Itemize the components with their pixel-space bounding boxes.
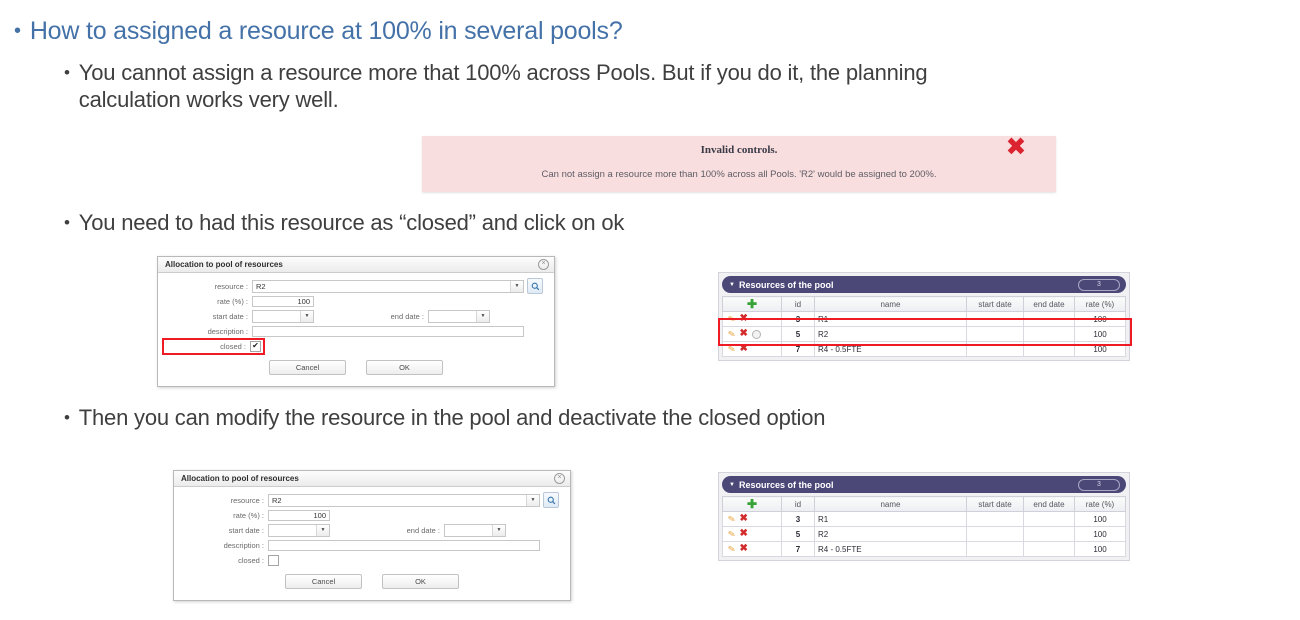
table-row[interactable]: ✎ ✖ 3 R1 100 <box>723 312 1126 327</box>
cell-id: 5 <box>782 327 815 342</box>
resource-value: R2 <box>253 281 510 292</box>
table-row[interactable]: ✎ ✖ 5 R2 100 <box>723 527 1126 542</box>
allocation-dialog-closed-checked: Allocation to pool of resources × resour… <box>157 256 555 387</box>
cell-end-date <box>1024 542 1075 557</box>
resource-select[interactable]: R2 ▼ <box>252 280 524 293</box>
row-actions: ✎ ✖ <box>723 312 782 327</box>
chevron-down-icon[interactable]: ▼ <box>729 482 735 488</box>
cell-name: R4 - 0.5FTE <box>815 542 967 557</box>
resources-pool-panel-top: ▼ Resources of the pool 3 ✚ id name star… <box>718 272 1130 361</box>
plus-icon[interactable]: ✚ <box>747 497 757 511</box>
cell-end-date <box>1024 342 1075 357</box>
rate-input[interactable]: 100 <box>268 510 330 521</box>
resource-label: resource : <box>166 282 252 291</box>
cell-id: 7 <box>782 542 815 557</box>
resource-label: resource : <box>182 496 268 505</box>
close-icon[interactable]: ✖ <box>1003 134 1029 160</box>
cell-id: 3 <box>782 512 815 527</box>
bullet-glyph: • <box>64 209 70 236</box>
dialog-titlebar: Allocation to pool of resources × <box>158 257 554 273</box>
chevron-down-icon[interactable]: ▼ <box>526 495 539 506</box>
cancel-button[interactable]: Cancel <box>269 360 346 375</box>
resource-value: R2 <box>269 495 526 506</box>
row-actions: ✎ ✖ <box>723 342 782 357</box>
end-date-input[interactable]: ▼ <box>444 524 506 537</box>
chevron-down-icon[interactable]: ▼ <box>476 311 489 322</box>
bullet-modify-resource: • Then you can modify the resource in th… <box>64 404 825 431</box>
rate-row: rate (%) : 100 <box>182 509 562 521</box>
chevron-down-icon[interactable]: ▼ <box>729 282 735 288</box>
delete-icon[interactable]: ✖ <box>740 314 748 324</box>
bullet-glyph: • <box>64 404 70 431</box>
dialog-titlebar: Allocation to pool of resources × <box>174 471 570 487</box>
rate-input[interactable]: 100 <box>252 296 314 307</box>
cell-start-date <box>967 342 1024 357</box>
dialog-title: Allocation to pool of resources <box>165 260 283 269</box>
cell-rate: 100 <box>1075 327 1126 342</box>
start-date-label: start date : <box>166 312 252 321</box>
resource-select[interactable]: R2 ▼ <box>268 494 540 507</box>
col-name: name <box>815 497 967 512</box>
delete-icon[interactable]: ✖ <box>740 529 748 539</box>
closed-highlight: closed : ✔ <box>162 338 265 355</box>
table-header-row: ✚ id name start date end date rate (%) <box>723 497 1126 512</box>
cell-name: R1 <box>815 512 967 527</box>
start-date-value <box>269 525 316 536</box>
cell-end-date <box>1024 312 1075 327</box>
edit-icon[interactable]: ✎ <box>727 313 736 325</box>
table-row[interactable]: ✎ ✖ 7 R4 - 0.5FTE 100 <box>723 342 1126 357</box>
col-end-date: end date <box>1024 297 1075 312</box>
ok-button[interactable]: OK <box>366 360 443 375</box>
col-rate: rate (%) <box>1075 497 1126 512</box>
bullet-glyph: • <box>64 59 70 86</box>
cancel-button[interactable]: Cancel <box>285 574 362 589</box>
edit-icon[interactable]: ✎ <box>727 343 736 355</box>
resource-row: resource : R2 ▼ <box>182 494 562 506</box>
col-name: name <box>815 297 967 312</box>
bullet-text: Then you can modify the resource in the … <box>79 404 826 431</box>
description-label: description : <box>166 327 252 336</box>
cell-rate: 100 <box>1075 527 1126 542</box>
col-end-date: end date <box>1024 497 1075 512</box>
resources-pool-panel-bottom: ▼ Resources of the pool 3 ✚ id name star… <box>718 472 1130 561</box>
col-start-date: start date <box>967 297 1024 312</box>
resource-row: resource : R2 ▼ <box>166 280 546 292</box>
col-rate: rate (%) <box>1075 297 1126 312</box>
resources-table: ✚ id name start date end date rate (%) ✎… <box>722 296 1126 357</box>
rate-label: rate (%) : <box>166 297 252 306</box>
rate-label: rate (%) : <box>182 511 268 520</box>
cell-rate: 100 <box>1075 542 1126 557</box>
delete-icon[interactable]: ✖ <box>740 344 748 354</box>
description-label: description : <box>182 541 268 550</box>
panel-title: Resources of the pool <box>739 480 834 490</box>
closed-row: closed : ✔ <box>166 340 546 352</box>
panel-header[interactable]: ▼ Resources of the pool 3 <box>722 476 1126 493</box>
description-input[interactable] <box>268 540 540 551</box>
error-title: Invalid controls. <box>422 136 1056 156</box>
col-id: id <box>782 497 815 512</box>
cell-rate: 100 <box>1075 342 1126 357</box>
status-circle-icon[interactable] <box>752 330 761 339</box>
rate-row: rate (%) : 100 <box>166 295 546 307</box>
end-date-input[interactable]: ▼ <box>428 310 490 323</box>
plus-icon[interactable]: ✚ <box>747 297 757 311</box>
cell-name: R1 <box>815 312 967 327</box>
cell-rate: 100 <box>1075 512 1126 527</box>
end-date-value <box>429 311 476 322</box>
bullet-line-2: calculation works very well. <box>79 87 339 112</box>
closed-checkbox[interactable]: ✔ <box>250 341 261 352</box>
cell-id: 5 <box>782 527 815 542</box>
add-row-header: ✚ <box>723 497 782 512</box>
allocation-dialog-closed-unchecked: Allocation to pool of resources × resour… <box>173 470 571 601</box>
count-badge: 3 <box>1078 279 1120 291</box>
description-row: description : <box>182 539 562 551</box>
row-actions: ✎ ✖ <box>723 327 782 342</box>
chevron-down-icon[interactable]: ▼ <box>492 525 505 536</box>
table-row[interactable]: ✎ ✖ 7 R4 - 0.5FTE 100 <box>723 542 1126 557</box>
ok-button[interactable]: OK <box>382 574 459 589</box>
edit-icon[interactable]: ✎ <box>727 543 736 555</box>
table-row[interactable]: ✎ ✖ 3 R1 100 <box>723 512 1126 527</box>
page-title: How to assigned a resource at 100% in se… <box>30 16 623 46</box>
slide-heading: • How to assigned a resource at 100% in … <box>14 16 623 46</box>
chevron-down-icon[interactable]: ▼ <box>510 281 523 292</box>
dialog-buttons: Cancel OK <box>182 574 562 589</box>
description-row: description : <box>166 325 546 337</box>
table-row[interactable]: ✎ ✖ 5 R2 100 <box>723 327 1126 342</box>
start-date-input[interactable]: ▼ <box>252 310 314 323</box>
resources-table: ✚ id name start date end date rate (%) ✎… <box>722 496 1126 557</box>
search-icon[interactable] <box>527 278 543 294</box>
end-date-value <box>445 525 492 536</box>
cell-start-date <box>967 327 1024 342</box>
cell-end-date <box>1024 327 1075 342</box>
cell-name: R2 <box>815 327 967 342</box>
description-input[interactable] <box>252 326 524 337</box>
cell-start-date <box>967 527 1024 542</box>
count-badge: 3 <box>1078 479 1120 491</box>
bullet-mark-closed: • You need to had this resource as “clos… <box>64 209 624 236</box>
bullet-text: You need to had this resource as “closed… <box>79 209 624 236</box>
panel-header[interactable]: ▼ Resources of the pool 3 <box>722 276 1126 293</box>
edit-icon[interactable]: ✎ <box>727 328 736 340</box>
col-id: id <box>782 297 815 312</box>
col-start-date: start date <box>967 497 1024 512</box>
end-date-label: end date : <box>330 526 444 535</box>
start-date-input[interactable]: ▼ <box>268 524 330 537</box>
dialog-body: resource : R2 ▼ rate (%) : 100 start dat… <box>174 487 570 600</box>
cell-rate: 100 <box>1075 312 1126 327</box>
close-icon[interactable]: × <box>554 473 565 484</box>
panel-title-group: ▼ Resources of the pool <box>729 280 833 290</box>
table-header-row: ✚ id name start date end date rate (%) <box>723 297 1126 312</box>
cell-start-date <box>967 542 1024 557</box>
dialog-body: resource : R2 ▼ rate (%) : 100 start dat… <box>158 273 554 386</box>
cell-id: 7 <box>782 342 815 357</box>
table-body: ✎ ✖ 3 R1 100 ✎ ✖ 5 R2 100 <box>723 512 1126 557</box>
dialog-title: Allocation to pool of resources <box>181 474 299 483</box>
bullet-cannot-assign: • You cannot assign a resource more that… <box>64 59 927 113</box>
start-date-label: start date : <box>182 526 268 535</box>
search-icon[interactable] <box>543 492 559 508</box>
cell-name: R2 <box>815 527 967 542</box>
close-icon[interactable]: × <box>538 259 549 270</box>
closed-label: closed : <box>182 556 268 565</box>
edit-icon[interactable]: ✎ <box>727 528 736 540</box>
closed-checkbox[interactable] <box>268 555 279 566</box>
cell-end-date <box>1024 527 1075 542</box>
error-banner: Invalid controls. Can not assign a resou… <box>422 136 1056 192</box>
chevron-down-icon[interactable]: ▼ <box>300 311 313 322</box>
magnifier-glyph <box>547 496 556 505</box>
cell-id: 3 <box>782 312 815 327</box>
dialog-buttons: Cancel OK <box>166 360 546 375</box>
magnifier-glyph <box>531 282 540 291</box>
error-message: Can not assign a resource more than 100%… <box>422 156 1056 180</box>
panel-title: Resources of the pool <box>739 280 834 290</box>
closed-label: closed : <box>164 342 250 351</box>
start-date-value <box>253 311 300 322</box>
dates-row: start date : ▼ end date : ▼ <box>182 524 562 536</box>
cell-end-date <box>1024 512 1075 527</box>
delete-icon[interactable]: ✖ <box>740 514 748 524</box>
panel-title-group: ▼ Resources of the pool <box>729 480 833 490</box>
chevron-down-icon[interactable]: ▼ <box>316 525 329 536</box>
delete-icon[interactable]: ✖ <box>740 544 748 554</box>
cell-name: R4 - 0.5FTE <box>815 342 967 357</box>
bullet-line-1: You cannot assign a resource more that 1… <box>79 60 928 85</box>
end-date-label: end date : <box>314 312 428 321</box>
row-actions: ✎ ✖ <box>723 527 782 542</box>
dates-row: start date : ▼ end date : ▼ <box>166 310 546 322</box>
cell-start-date <box>967 312 1024 327</box>
row-actions: ✎ ✖ <box>723 512 782 527</box>
bullet-glyph: • <box>14 16 21 46</box>
edit-icon[interactable]: ✎ <box>727 513 736 525</box>
row-actions: ✎ ✖ <box>723 542 782 557</box>
table-body: ✎ ✖ 3 R1 100 ✎ ✖ 5 R2 100 <box>723 312 1126 357</box>
cell-start-date <box>967 512 1024 527</box>
closed-row: closed : <box>182 554 562 566</box>
delete-icon[interactable]: ✖ <box>740 329 748 339</box>
add-row-header: ✚ <box>723 297 782 312</box>
